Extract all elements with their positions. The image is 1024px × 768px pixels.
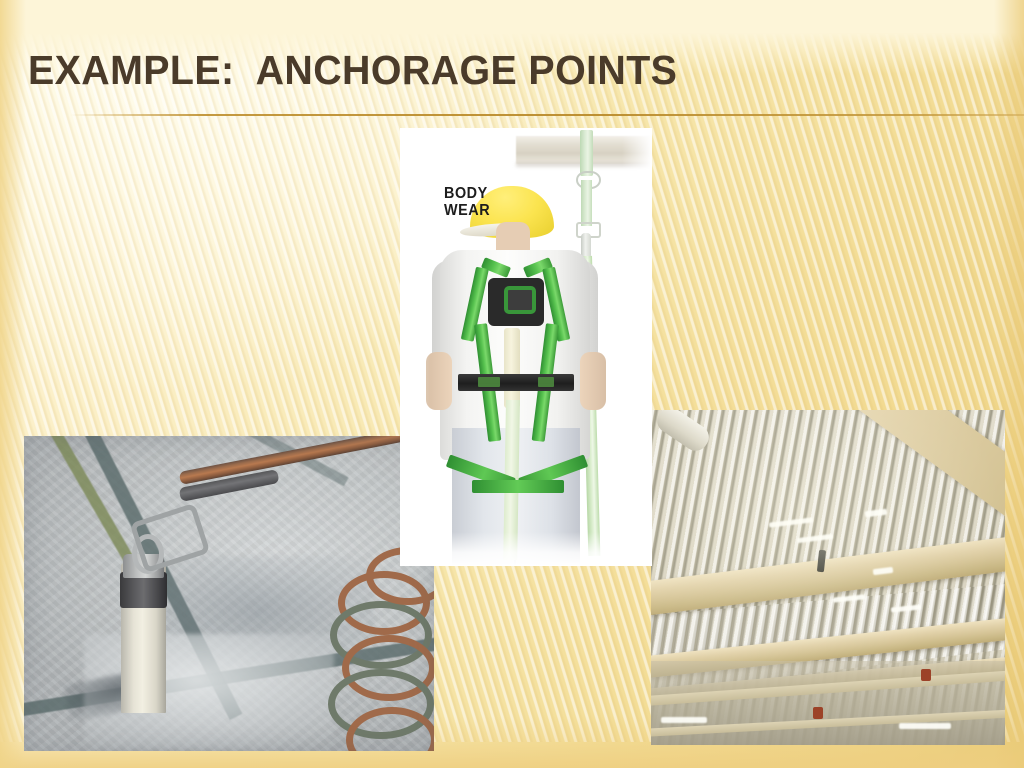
background-left-edge: [0, 0, 26, 768]
ceiling-light: [661, 717, 707, 723]
image-body-wear: BODYWEAR: [400, 128, 652, 566]
slide: Example: Anchorage Points: [0, 0, 1024, 768]
red-fitting: [813, 707, 823, 719]
coiled-hoses: [320, 557, 434, 751]
harness-sub-pelvic-strap: [458, 374, 574, 391]
page-title: Example: Anchorage Points: [28, 50, 677, 91]
lanyard-upper: [581, 180, 592, 226]
red-fitting: [921, 669, 931, 681]
panel-right-fade: [622, 128, 652, 566]
panel-bottom-fade: [400, 532, 652, 566]
harness-label-tag: [538, 377, 554, 387]
body-wear-label: BODYWEAR: [444, 185, 490, 220]
ceiling-light: [899, 723, 951, 729]
harness-label-tag: [478, 377, 500, 387]
image-roof-anchor: [24, 436, 434, 751]
shock-absorber-pack: [504, 328, 520, 408]
harness-seat-strap: [472, 480, 564, 493]
image-ceiling-structure: [651, 410, 1005, 745]
dorsal-d-ring: [504, 286, 536, 314]
panel-left-fade: [400, 128, 430, 566]
anchorage-strap: [580, 130, 593, 176]
title-underline-rule: [70, 114, 1024, 116]
worker-arm-right: [580, 352, 606, 410]
